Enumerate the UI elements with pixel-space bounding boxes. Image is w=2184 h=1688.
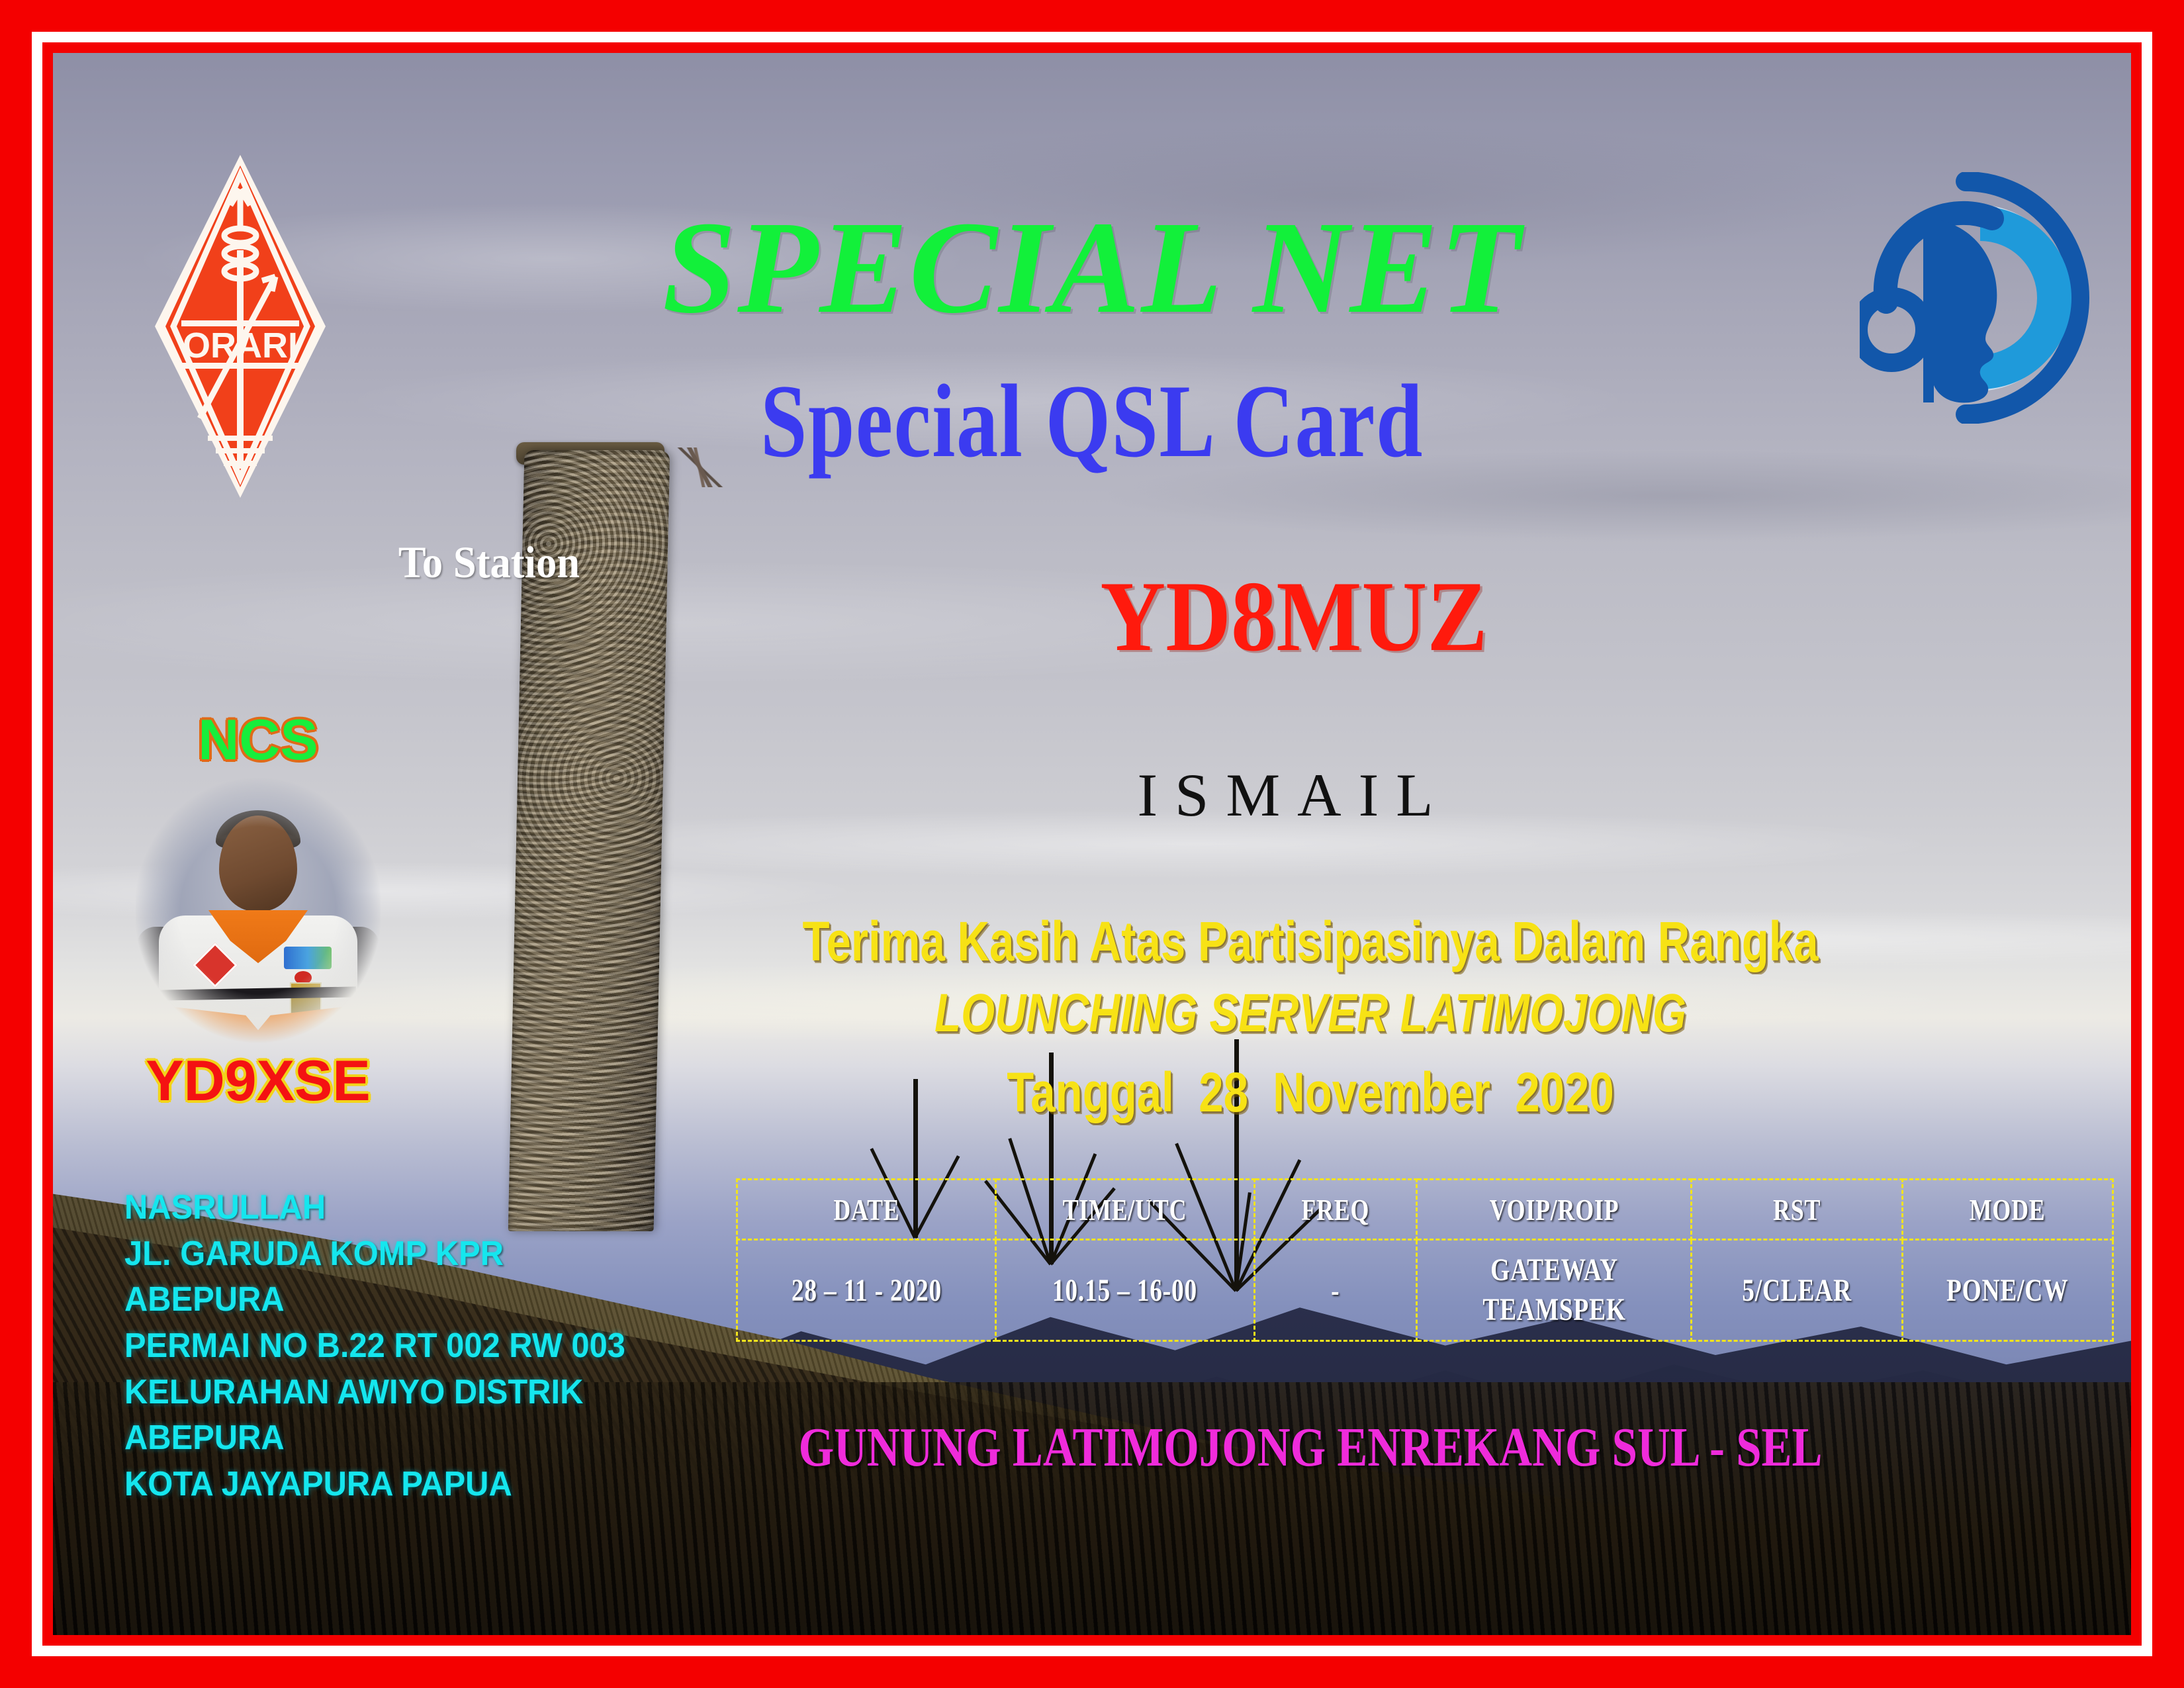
card-inner-red-frame: ORARI <box>42 42 2142 1646</box>
qsl-card: ORARI <box>0 0 2184 1688</box>
qso-log-table: DATE TIME/UTC FREQ VOIP/ROIP RST MODE 28… <box>736 1178 2114 1342</box>
card-subtitle-qsl: Special QSL Card <box>261 369 1923 474</box>
header-date: DATE <box>765 1180 967 1240</box>
address-line-6: ABEPURA <box>124 1415 672 1462</box>
ncs-label: NCS <box>136 712 381 769</box>
address-line-4: PERMAI NO B.22 RT 002 RW 003 <box>124 1323 672 1370</box>
address-line-7: KOTA JAYAPURA PAPUA <box>124 1462 672 1508</box>
table-header-row: DATE TIME/UTC FREQ VOIP/ROIP RST MODE <box>737 1180 2113 1240</box>
header-mode: MODE <box>1925 1180 2089 1240</box>
cell-mode: PONE/CW <box>1925 1240 2089 1341</box>
recipient-callsign: YD8MUZ <box>833 566 1756 667</box>
header-voip-roip: VOIP/ROIP <box>1447 1180 1662 1240</box>
card-background-photo: ORARI <box>53 53 2131 1635</box>
header-time-utc: TIME/UTC <box>1024 1180 1226 1240</box>
ncs-operator-photo <box>136 771 381 1049</box>
address-line-3: ABEPURA <box>124 1277 672 1323</box>
table-row: 28 – 11 - 2020 10.15 – 16-00 - GATEWAY T… <box>737 1240 2113 1341</box>
cell-date: 28 – 11 - 2020 <box>765 1240 967 1341</box>
recipient-operator-name: ISMAIL <box>781 765 1807 825</box>
header-freq: FREQ <box>1272 1180 1399 1240</box>
thanks-line-1: Terima Kasih Atas Partisipasinya Dalam R… <box>781 914 1840 969</box>
cell-time-utc: 10.15 – 16-00 <box>1024 1240 1226 1341</box>
event-location: GUNUNG LATIMOJONG ENREKANG SUL - SEL <box>768 1420 1853 1476</box>
card-title-special-net: SPECIAL NET <box>53 202 2131 334</box>
thanks-line-2: LOUNCHING SERVER LATIMOJONG <box>781 986 1840 1041</box>
to-station-label: To Station <box>398 539 580 585</box>
sender-address-block: NASRULLAHJL. GARUDA KOMP KPRABEPURAPERMA… <box>124 1185 672 1508</box>
cell-freq: - <box>1272 1240 1399 1341</box>
footer-website-address: Address : amatir.latimojong.com <box>1297 1628 1994 1635</box>
ncs-callsign: YD9XSE <box>116 1053 400 1109</box>
address-line-5: KELURAHAN AWIYO DISTRIK <box>124 1370 672 1416</box>
address-line-1: NASRULLAH <box>124 1185 672 1231</box>
address-line-2: JL. GARUDA KOMP KPR <box>124 1231 672 1278</box>
thanks-line-3: Tanggal 28 November 2020 <box>781 1064 1840 1120</box>
card-white-frame: ORARI <box>32 32 2152 1656</box>
cell-voip-roip: GATEWAY TEAMSPEK <box>1447 1240 1662 1341</box>
cell-rst: 5/CLEAR <box>1715 1240 1879 1341</box>
header-rst: RST <box>1715 1180 1879 1240</box>
operator-uniform-logo <box>284 947 332 969</box>
footer-motto: "AMATIR RADIO ADALAH PROGRESIVE" <box>132 1628 1041 1635</box>
